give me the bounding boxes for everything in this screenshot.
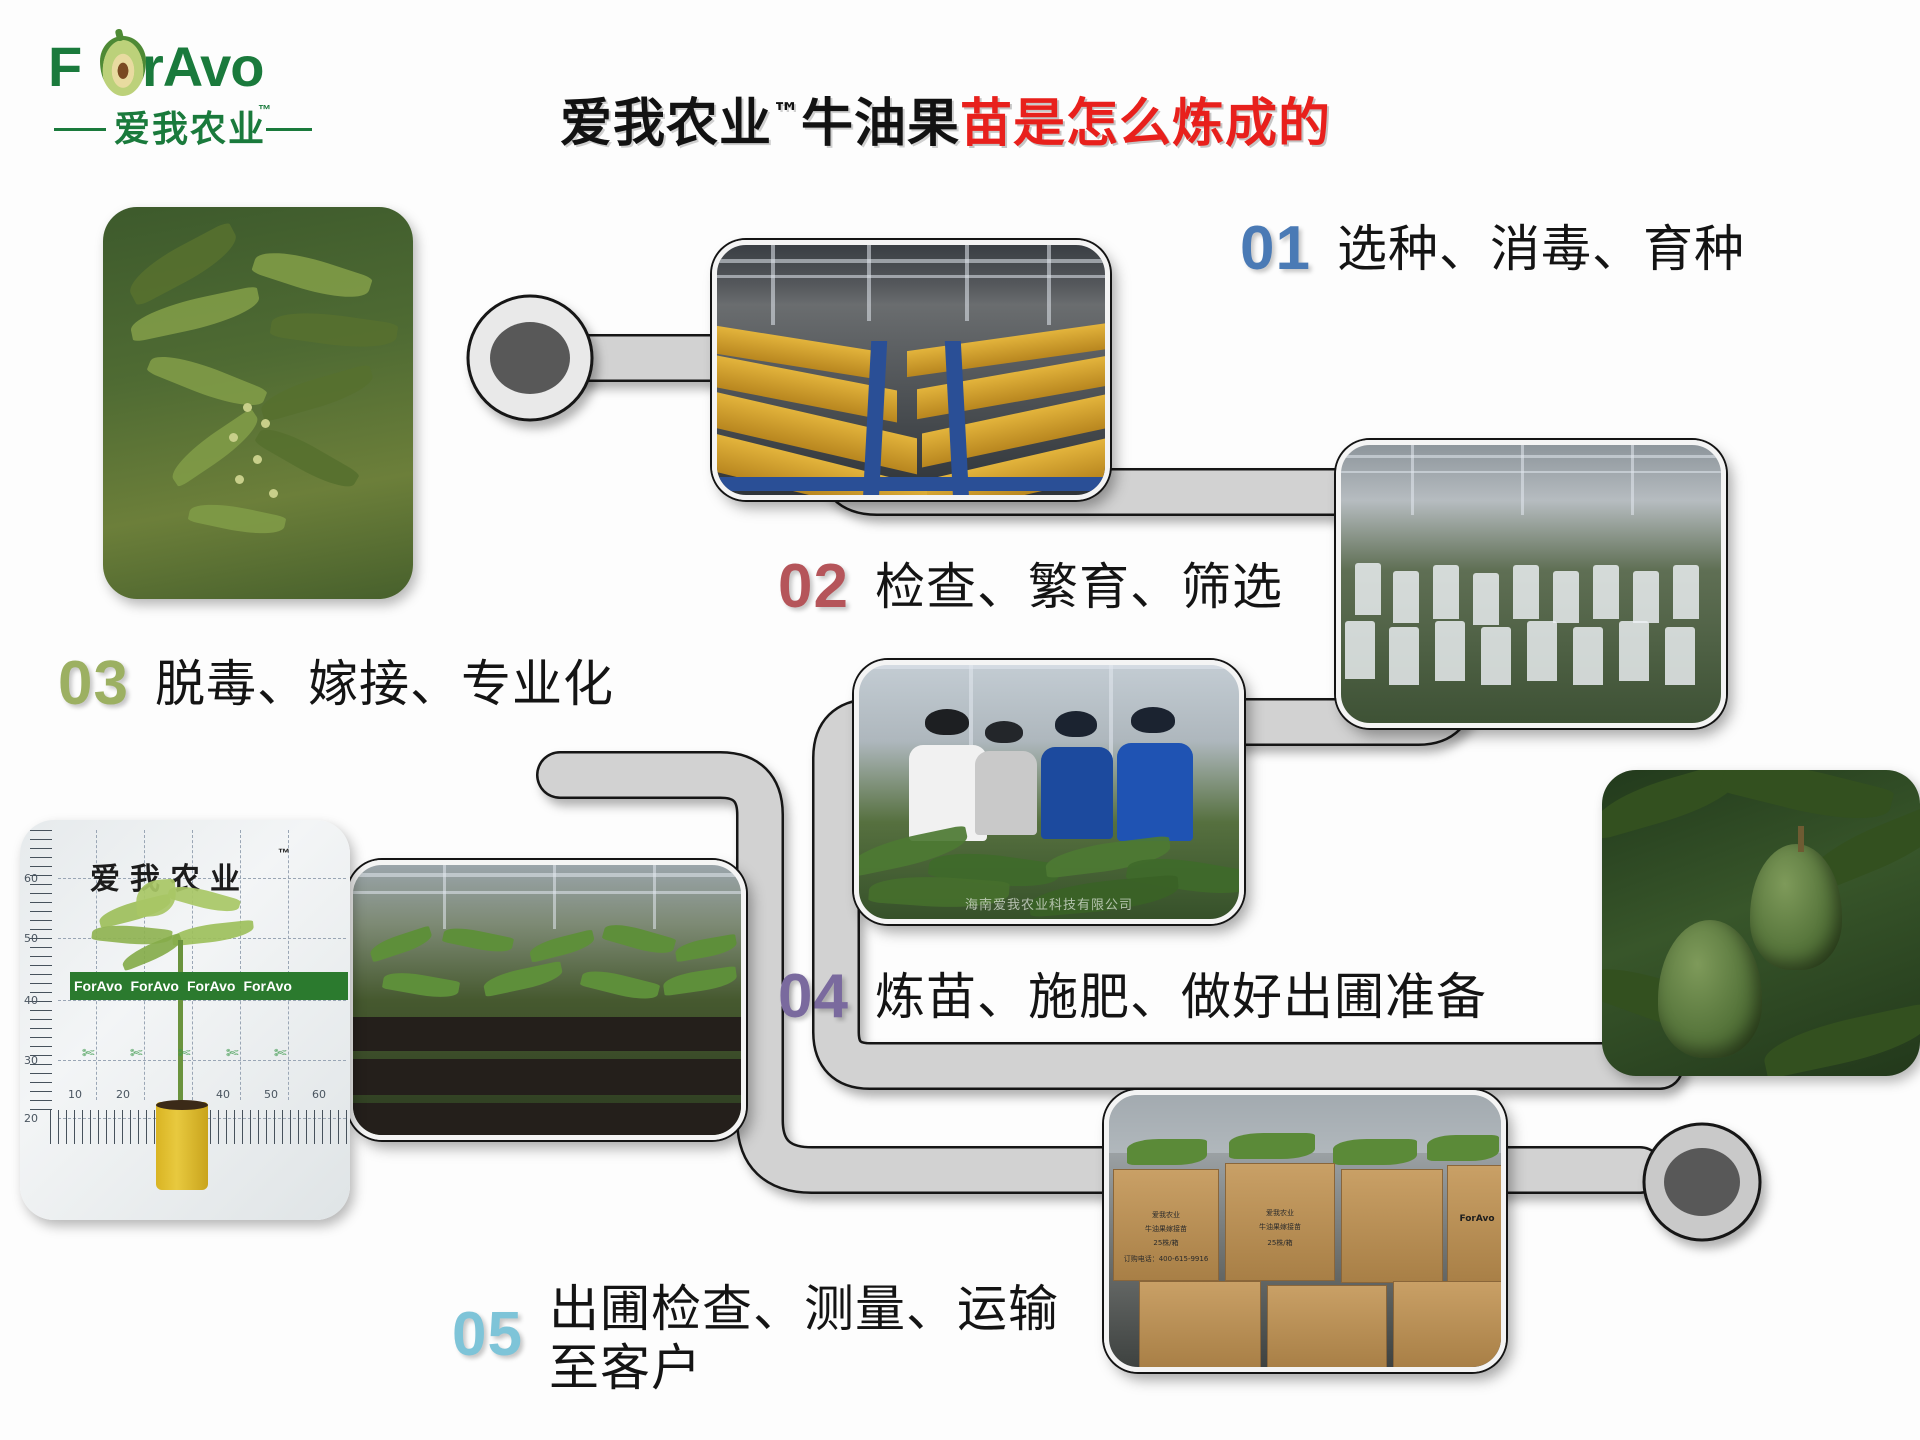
step-05-text: 出圃检查、测量、运输 至客户	[549, 1280, 1059, 1398]
box-label-line1: 爱我农业	[1114, 1210, 1218, 1220]
logo-letters-ravo: rAvo	[142, 34, 264, 99]
step-05-number: 05	[452, 1306, 523, 1365]
title-trademark-mark: ™	[772, 97, 801, 130]
logo-trademark-mark: ™	[258, 102, 271, 117]
ruler-tick-v-30: 30	[24, 1054, 38, 1067]
photo-bagged-grafts	[1336, 440, 1726, 728]
step-03-text: 脱毒、嫁接、专业化	[155, 655, 614, 714]
logo-chinese-line: 爱我农业 ™	[48, 102, 328, 144]
step-03: 03 脱毒、嫁接、专业化	[58, 655, 614, 714]
photo-overlay-trademark: ™	[278, 846, 290, 860]
box-label-line2: 牛油果嫁接苗	[1114, 1224, 1218, 1234]
box-label-line1: 爱我农业	[1226, 1208, 1334, 1218]
flow-end-node	[1644, 1124, 1760, 1240]
ruler-tick-h-40: 40	[216, 1088, 230, 1101]
photo-flowering-branch	[103, 207, 413, 599]
box-label-line2: 牛油果嫁接苗	[1226, 1222, 1334, 1232]
ruler-tick-v-60: 60	[24, 872, 38, 885]
title-red-part: 苗是怎么炼成的	[960, 94, 1331, 154]
photo-fruit-on-tree	[1602, 770, 1920, 1076]
photo-nursery-rows	[348, 860, 746, 1140]
ruler-tick-v-40: 40	[24, 994, 38, 1007]
step-04-number: 04	[778, 968, 849, 1027]
flow-start-node	[468, 296, 592, 420]
photo-packing-boxes: 爱我农业 牛油果嫁接苗 25株/箱 订购电话：400-615-9916 爱我农业…	[1104, 1090, 1506, 1372]
box-label-line3: 25株/箱	[1114, 1238, 1218, 1248]
band-text: ForAvo	[183, 978, 239, 994]
box-side-label: ForAvo	[1448, 1214, 1501, 1224]
photo-measured-seedling: 60 50 40 30 20 10 爱我农业 ™ ForAvo ForAvo F…	[20, 820, 350, 1220]
logo-chinese-name: 爱我农业	[114, 100, 266, 152]
step-03-number: 03	[58, 655, 129, 714]
foravo-repeat-band: ForAvo ForAvo ForAvo ForAvo	[70, 972, 348, 1000]
step-01-number: 01	[1240, 220, 1311, 279]
step-05: 05 出圃检查、测量、运输 至客户	[452, 1280, 1059, 1398]
brand-logo: F rAvo 爱我农业 ™	[48, 34, 328, 144]
band-text: ForAvo	[70, 978, 126, 994]
ruler-tick-h-50: 50	[264, 1088, 278, 1101]
ruler-tick-h-60: 60	[312, 1088, 326, 1101]
step-01: 01 选种、消毒、育种	[1240, 220, 1745, 279]
avocado-icon	[100, 36, 146, 96]
box-label-line3: 25株/箱	[1226, 1238, 1334, 1248]
ruler-tick-h-20: 20	[116, 1088, 130, 1101]
box-label-line4: 订购电话：400-615-9916	[1114, 1254, 1218, 1264]
logo-wordmark: F rAvo	[48, 34, 328, 98]
logo-dash-right	[266, 128, 312, 131]
band-text: ForAvo	[126, 978, 182, 994]
band-text: ForAvo	[239, 978, 295, 994]
photo-inspection-team: 海南爱我农业科技有限公司	[854, 660, 1244, 924]
step-04: 04 炼苗、施肥、做好出圃准备	[778, 968, 1487, 1027]
step-01-text: 选种、消毒、育种	[1337, 220, 1745, 279]
logo-letter-f: F	[48, 34, 81, 99]
ruler-tick-v-20: 20	[24, 1112, 38, 1125]
title-black-part: 爱我农业	[560, 94, 772, 154]
ruler-tick-v-50: 50	[24, 932, 38, 945]
logo-dash-left	[54, 128, 106, 131]
title-black-part2: 牛油果	[801, 94, 960, 154]
step-04-text: 炼苗、施肥、做好出圃准备	[875, 968, 1487, 1027]
step-02-number: 02	[778, 558, 849, 617]
page-title: 爱我农业™牛油果苗是怎么炼成的	[560, 81, 1660, 156]
ruler-tick-h-10: 10	[68, 1088, 82, 1101]
photo-watermark: 海南爱我农业科技有限公司	[859, 894, 1239, 913]
photo-seed-trays	[712, 240, 1110, 500]
step-02: 02 检查、繁育、筛选	[778, 558, 1283, 617]
step-02-text: 检查、繁育、筛选	[875, 558, 1283, 617]
infographic-canvas: F rAvo 爱我农业 ™ 爱我农业™牛油果苗是怎么炼成的	[0, 0, 1920, 1440]
